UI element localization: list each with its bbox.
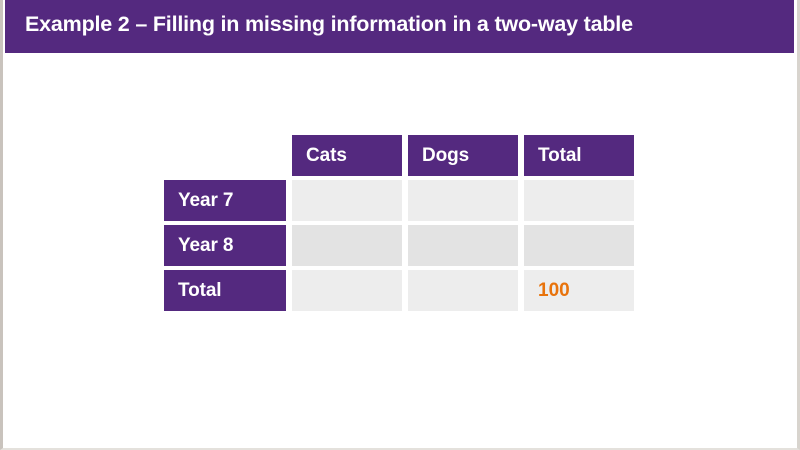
table-row: Total 100 bbox=[164, 270, 642, 311]
cell-year7-total[interactable] bbox=[524, 180, 634, 221]
table-row: Year 8 bbox=[164, 225, 642, 266]
cell-total-dogs[interactable] bbox=[408, 270, 518, 311]
cell-year7-cats[interactable] bbox=[292, 180, 402, 221]
cell-year8-dogs[interactable] bbox=[408, 225, 518, 266]
column-header-total: Total bbox=[524, 135, 634, 176]
cell-total-total[interactable]: 100 bbox=[524, 270, 634, 311]
column-header-cats: Cats bbox=[292, 135, 402, 176]
cell-year8-cats[interactable] bbox=[292, 225, 402, 266]
row-header-year-7: Year 7 bbox=[164, 180, 286, 221]
cell-year8-total[interactable] bbox=[524, 225, 634, 266]
two-way-table: Cats Dogs Total Year 7 Year 8 Total 100 bbox=[164, 135, 642, 311]
cell-year7-dogs[interactable] bbox=[408, 180, 518, 221]
column-header-dogs: Dogs bbox=[408, 135, 518, 176]
page-title: Example 2 – Filling in missing informati… bbox=[25, 14, 633, 36]
table-header-row: Cats Dogs Total bbox=[164, 135, 642, 176]
slide-title-bar: Example 2 – Filling in missing informati… bbox=[5, 0, 794, 53]
table-row: Year 7 bbox=[164, 180, 642, 221]
row-header-year-8: Year 8 bbox=[164, 225, 286, 266]
slide-canvas: Example 2 – Filling in missing informati… bbox=[0, 0, 800, 450]
cell-total-cats[interactable] bbox=[292, 270, 402, 311]
row-header-total: Total bbox=[164, 270, 286, 311]
table-corner-cell bbox=[164, 135, 286, 176]
